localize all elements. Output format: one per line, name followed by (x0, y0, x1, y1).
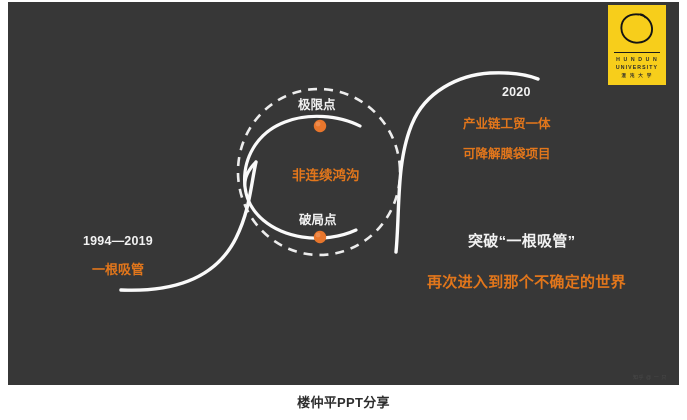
limit-point-dot (314, 120, 326, 132)
logo-text-line-cn: 混 沌 大 学 (621, 72, 652, 80)
limit-point-dot-highlight (316, 122, 321, 127)
discontinuity-gap-label: 非连续鸿沟 (292, 168, 360, 185)
growth-curve-diagram (8, 2, 679, 385)
left-stage-years: 1994—2019 (83, 234, 153, 250)
break-point-dot-highlight (316, 233, 321, 238)
limit-point-label: 极限点 (298, 98, 336, 114)
apple-outline-icon (608, 5, 666, 51)
logo-divider (614, 52, 660, 53)
slide-canvas: 1994—2019 一根吸管 极限点 非连续鸿沟 破局点 2020 产业链工贸一… (8, 2, 679, 385)
break-point-label: 破局点 (299, 213, 337, 229)
conclusion-line-2: 再次进入到那个不确定的世界 (427, 274, 626, 293)
right-stage-line-2: 可降解膜袋项目 (463, 147, 551, 163)
page-caption: 楼仲平PPT分享 (0, 392, 687, 411)
slide-watermark: 知乎 @ 一 只 (633, 374, 667, 381)
right-stage-year: 2020 (502, 85, 531, 101)
break-point-dot (314, 231, 326, 243)
page-root: 1994—2019 一根吸管 极限点 非连续鸿沟 破局点 2020 产业链工贸一… (0, 0, 687, 420)
right-stage-line-1: 产业链工贸一体 (463, 117, 551, 133)
logo-text-line-1: H U N D U N (616, 56, 658, 64)
logo-text-line-2: UNIVERSITY (616, 64, 658, 72)
left-stage-subject: 一根吸管 (92, 262, 144, 278)
hundun-university-logo: H U N D U N UNIVERSITY 混 沌 大 学 (608, 5, 666, 85)
conclusion-line-1: 突破“一根吸管” (468, 233, 575, 252)
